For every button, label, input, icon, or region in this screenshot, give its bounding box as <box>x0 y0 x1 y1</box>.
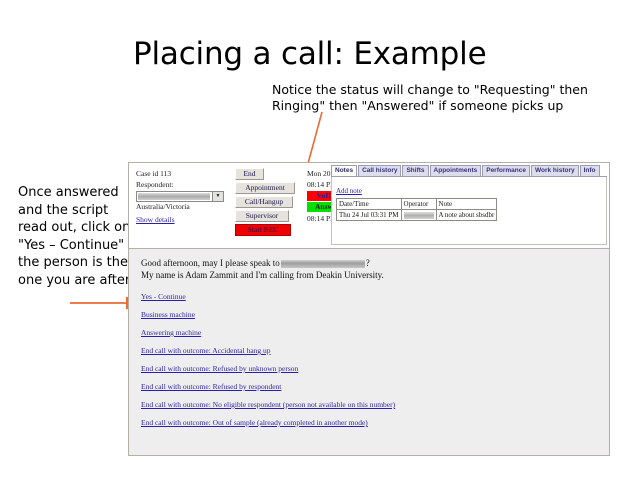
notes-table: Date/Time Operator Note Thu 24 Jul 03:31… <box>336 198 497 221</box>
operator-redacted <box>404 212 434 219</box>
annotation-status-change: Notice the status will change to "Reques… <box>272 82 602 113</box>
chevron-down-icon[interactable]: ▼ <box>212 192 223 201</box>
start-rec-button[interactable]: Start REC <box>235 224 291 236</box>
link-no-eligible-respondent[interactable]: End call with outcome: No eligible respo… <box>141 400 395 409</box>
call-hangup-button[interactable]: Call/Hangup <box>235 196 293 208</box>
annotation-click-yes-continue: Once answered and the script read out, c… <box>18 184 138 289</box>
script-greeting: Good afternoon, may I please speak to? <box>141 257 597 269</box>
tab-notes[interactable]: Notes <box>331 165 357 176</box>
tab-shifts[interactable]: Shifts <box>402 165 428 176</box>
table-header-row: Date/Time Operator Note <box>337 199 497 210</box>
application-window: Case id 113 Respondent: ▼ Australia/Vict… <box>128 162 610 456</box>
tab-info[interactable]: Info <box>580 165 600 176</box>
add-note-link[interactable]: Add note <box>336 187 362 195</box>
tab-performance[interactable]: Performance <box>482 165 530 176</box>
column-datetime: Date/Time <box>337 199 402 210</box>
tab-appointments[interactable]: Appointments <box>430 165 482 176</box>
appointment-button[interactable]: Appointment <box>235 182 295 194</box>
greeting-before: Good afternoon, may I please speak to <box>141 258 280 268</box>
action-buttons: End Appointment Call/Hangup Supervisor S… <box>235 168 299 238</box>
link-answering-machine[interactable]: Answering machine <box>141 328 201 337</box>
column-note: Note <box>436 199 497 210</box>
link-refused-by-respondent[interactable]: End call with outcome: Refused by respon… <box>141 382 281 391</box>
respondent-value-redacted <box>138 193 210 200</box>
script-outcome-links: Yes - Continue Business machine Answerin… <box>141 292 597 427</box>
end-button[interactable]: End <box>235 168 264 180</box>
app-top-panel: Case id 113 Respondent: ▼ Australia/Vict… <box>129 163 609 249</box>
link-refused-by-unknown-person[interactable]: End call with outcome: Refused by unknow… <box>141 364 298 373</box>
link-business-machine[interactable]: Business machine <box>141 310 195 319</box>
script-panel: Good afternoon, may I please speak to? M… <box>129 249 609 455</box>
script-intro: My name is Adam Zammit and I'm calling f… <box>141 269 597 281</box>
timezone-label: Australia/Victoria <box>136 202 231 213</box>
supervisor-button[interactable]: Supervisor <box>235 210 289 222</box>
respondent-label: Respondent: <box>136 180 231 191</box>
link-accidental-hang-up[interactable]: End call with outcome: Accidental hang u… <box>141 346 271 355</box>
cell-operator <box>401 210 436 221</box>
cell-datetime: Thu 24 Jul 03:31 PM <box>337 210 402 221</box>
tab-strip: Notes Call history Shifts Appointments P… <box>331 165 607 177</box>
respondent-select[interactable]: ▼ <box>136 191 224 202</box>
tab-call-history[interactable]: Call history <box>358 165 401 176</box>
show-details-link[interactable]: Show details <box>136 215 175 226</box>
case-info-block: Case id 113 Respondent: ▼ Australia/Vict… <box>136 169 231 225</box>
table-row[interactable]: Thu 24 Jul 03:31 PM A note about sbsdbr <box>337 210 497 221</box>
tab-panel: Notes Call history Shifts Appointments P… <box>331 165 607 245</box>
respondent-name-redacted <box>281 260 365 268</box>
column-operator: Operator <box>401 199 436 210</box>
link-yes-continue[interactable]: Yes - Continue <box>141 292 186 301</box>
notes-tab-body: Add note Date/Time Operator Note Thu 24 … <box>331 177 607 245</box>
case-id-label: Case id 113 <box>136 169 231 180</box>
cell-note: A note about sbsdbr <box>436 210 497 221</box>
greeting-after: ? <box>366 258 370 268</box>
link-out-of-sample[interactable]: End call with outcome: Out of sample (al… <box>141 418 368 427</box>
page-title: Placing a call: Example <box>133 36 486 72</box>
tab-work-history[interactable]: Work history <box>531 165 579 176</box>
